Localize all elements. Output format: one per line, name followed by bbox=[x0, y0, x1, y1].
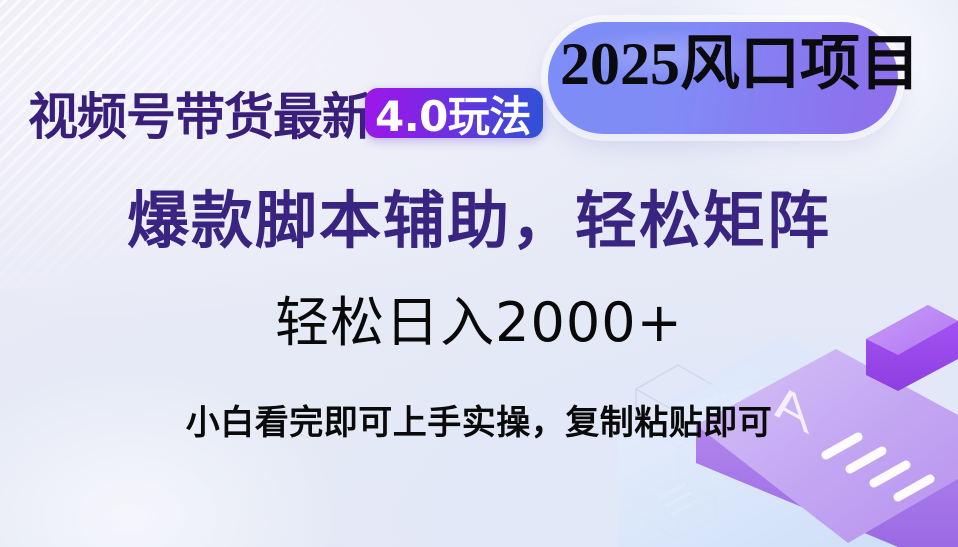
headline-line-1-text: 视频号带货最新 bbox=[28, 77, 371, 149]
headline-line-3-income: 轻松日入2000+ bbox=[275, 296, 683, 350]
poster-canvas: A 2025风口项目 视频号带货最新 4.0玩法 爆款脚本辅助，轻松矩阵 轻松日… bbox=[0, 0, 958, 547]
bottom-left-glow bbox=[0, 367, 340, 547]
headline-line-2: 爆款脚本辅助，轻松矩阵 bbox=[127, 190, 831, 252]
tagline: 小白看完即可上手实操，复制粘贴即可 bbox=[186, 406, 773, 440]
badge-4-0-playstyle: 4.0玩法 bbox=[365, 88, 543, 138]
badge-2025-text: 2025风口项目 bbox=[560, 34, 920, 94]
headline-line-1-row: 视频号带货最新 4.0玩法 bbox=[28, 82, 543, 144]
